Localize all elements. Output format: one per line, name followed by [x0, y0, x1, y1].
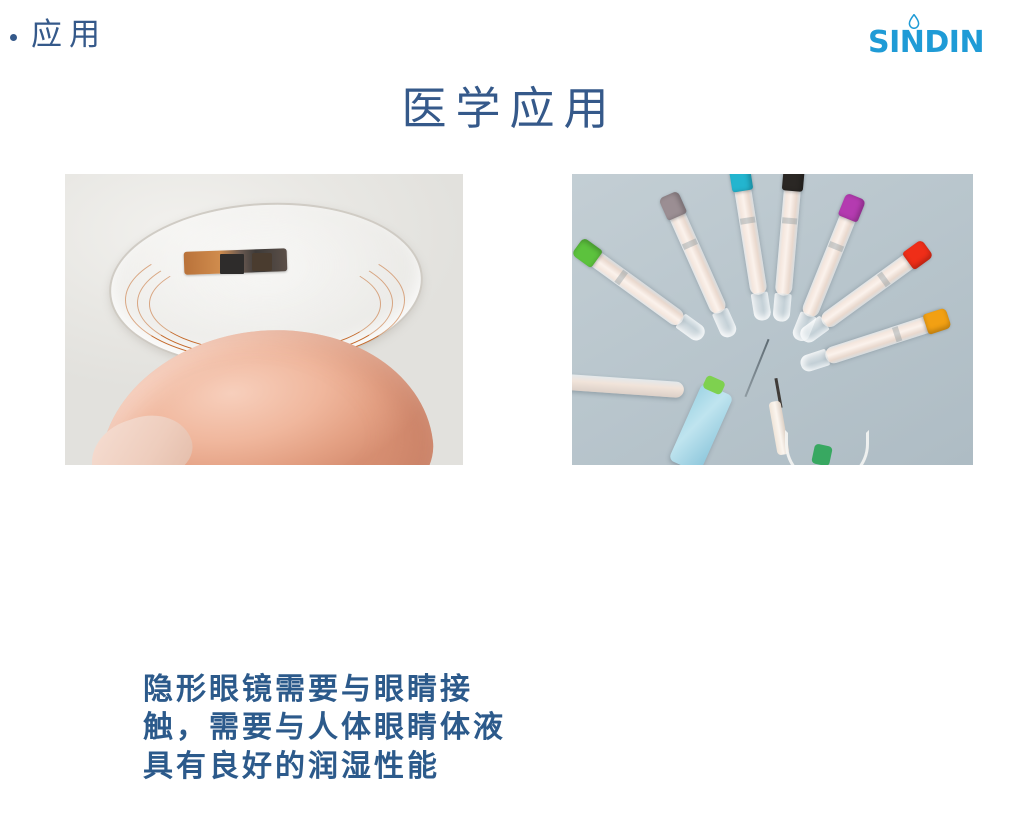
collection-needle: [745, 339, 770, 397]
tube-label-band: [682, 238, 698, 250]
brand-logo: SINDIN: [868, 14, 996, 60]
page-title: 医学应用: [0, 83, 1010, 135]
tube-label-band: [614, 270, 628, 286]
bullet-dot-icon: [10, 34, 17, 41]
tube-label-band: [828, 241, 844, 252]
orange-cap-tube: [823, 316, 931, 366]
content-column-left: 隐形眼镜需要与眼睛接触，需要与人体眼睛体液具有良好的润湿性能: [65, 174, 463, 465]
flexible-tubing: [785, 430, 869, 465]
lens-microchip-secondary: [252, 253, 272, 272]
header-bullet-label: 应用: [31, 20, 107, 51]
uncapped-tube: [572, 374, 684, 398]
tube-label-band: [740, 216, 756, 224]
smart-contact-lens-on-fingertip-photo: [65, 174, 463, 465]
content-column-right: 而常见的采血管，就需要疏水，不同工艺后的采血管疏水性质，可以采用接触角评估: [572, 174, 973, 465]
green-cap-tube: [590, 251, 687, 328]
lens-microchip-primary: [220, 254, 244, 274]
gray-cap-tube: [669, 211, 728, 317]
black-cap-tube: [775, 187, 801, 296]
blood-collection-tubes-photo: [572, 174, 973, 465]
header-bullet-line: 应用: [10, 20, 107, 51]
tube-label-band: [877, 272, 891, 288]
cyan-cap-tube: [734, 187, 768, 296]
brand-logo-wordmark: SINDIN: [868, 28, 984, 58]
caption-left: 隐形眼镜需要与眼睛接触，需要与人体眼睛体液具有良好的润湿性能: [143, 671, 533, 786]
tube-label-band: [892, 326, 902, 342]
tube-label-band: [782, 217, 797, 224]
